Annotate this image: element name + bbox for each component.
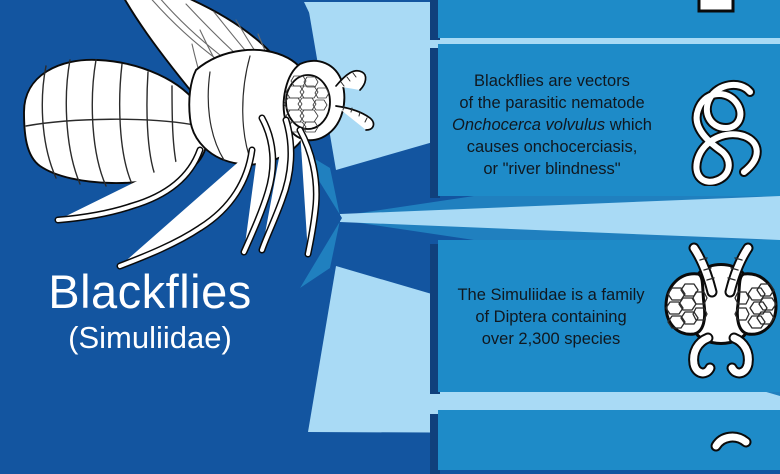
panel-vector-line-1: of the parasitic nematode [444,92,660,114]
nematode-worm-icon [670,54,776,186]
panel-vector-line-0: Blackflies are vectors [444,70,660,92]
panel-vector-line-4: or "river blindness" [444,158,660,180]
panel-family-line-2: over 2,300 species [438,328,664,350]
species-name: Onchocerca volvulus [452,116,605,134]
panel-family[interactable]: The Simuliidae is a family of Diptera co… [438,240,780,392]
partial-icon [708,424,754,460]
panel-vector-text: Blackflies are vectors of the parasitic … [444,70,660,181]
fly-head-front-icon [660,238,780,380]
infographic-canvas: Blackflies (Simuliidae) Blackflies are v… [0,0,780,438]
panel-family-line-0: The Simuliidae is a family [438,284,664,306]
panel-top-partial[interactable] [438,0,780,38]
fly-antenna-lower [336,106,373,130]
blackfly-side-view-icon [24,0,373,266]
panel-bottom-partial[interactable] [438,410,780,470]
panel-vector-line-2: Onchocerca volvulus which [444,114,660,136]
rectangle-icon [696,0,736,16]
panel-vector-line-3: causes onchocerciasis, [444,136,660,158]
panel-family-text: The Simuliidae is a family of Diptera co… [438,284,664,350]
species-tail: which [605,116,652,134]
panel-family-line-1: of Diptera containing [438,306,664,328]
panel-vector[interactable]: Blackflies are vectors of the parasitic … [438,44,780,196]
